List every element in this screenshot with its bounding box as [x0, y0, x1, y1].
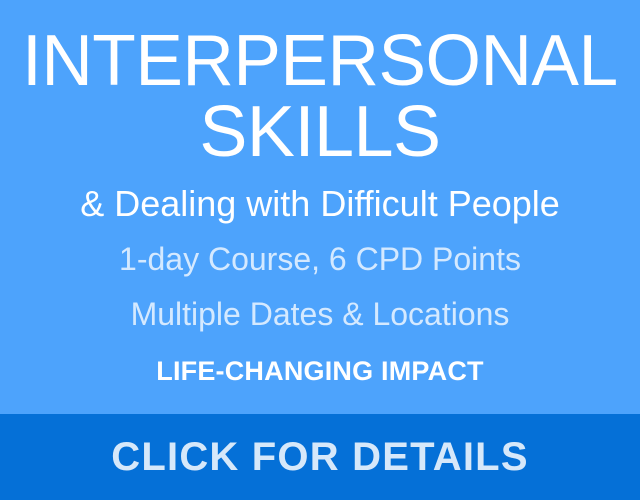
- detail-course-duration-cpd: 1-day Course, 6 CPD Points: [119, 240, 521, 278]
- tagline-impact: LIFE-CHANGING IMPACT: [156, 355, 483, 387]
- headline-primary-line-2: SKILLS: [199, 95, 440, 171]
- ad-content-area: INTERPERSONAL SKILLS & Dealing with Diff…: [0, 0, 640, 414]
- course-advertisement-banner[interactable]: INTERPERSONAL SKILLS & Dealing with Diff…: [0, 0, 640, 500]
- headline-subtitle: & Dealing with Difficult People: [80, 182, 560, 225]
- cta-button-label: CLICK FOR DETAILS: [111, 435, 528, 480]
- detail-dates-locations: Multiple Dates & Locations: [131, 295, 510, 333]
- cta-button[interactable]: CLICK FOR DETAILS: [0, 414, 640, 500]
- headline-primary-line-1: INTERPERSONAL: [22, 26, 618, 97]
